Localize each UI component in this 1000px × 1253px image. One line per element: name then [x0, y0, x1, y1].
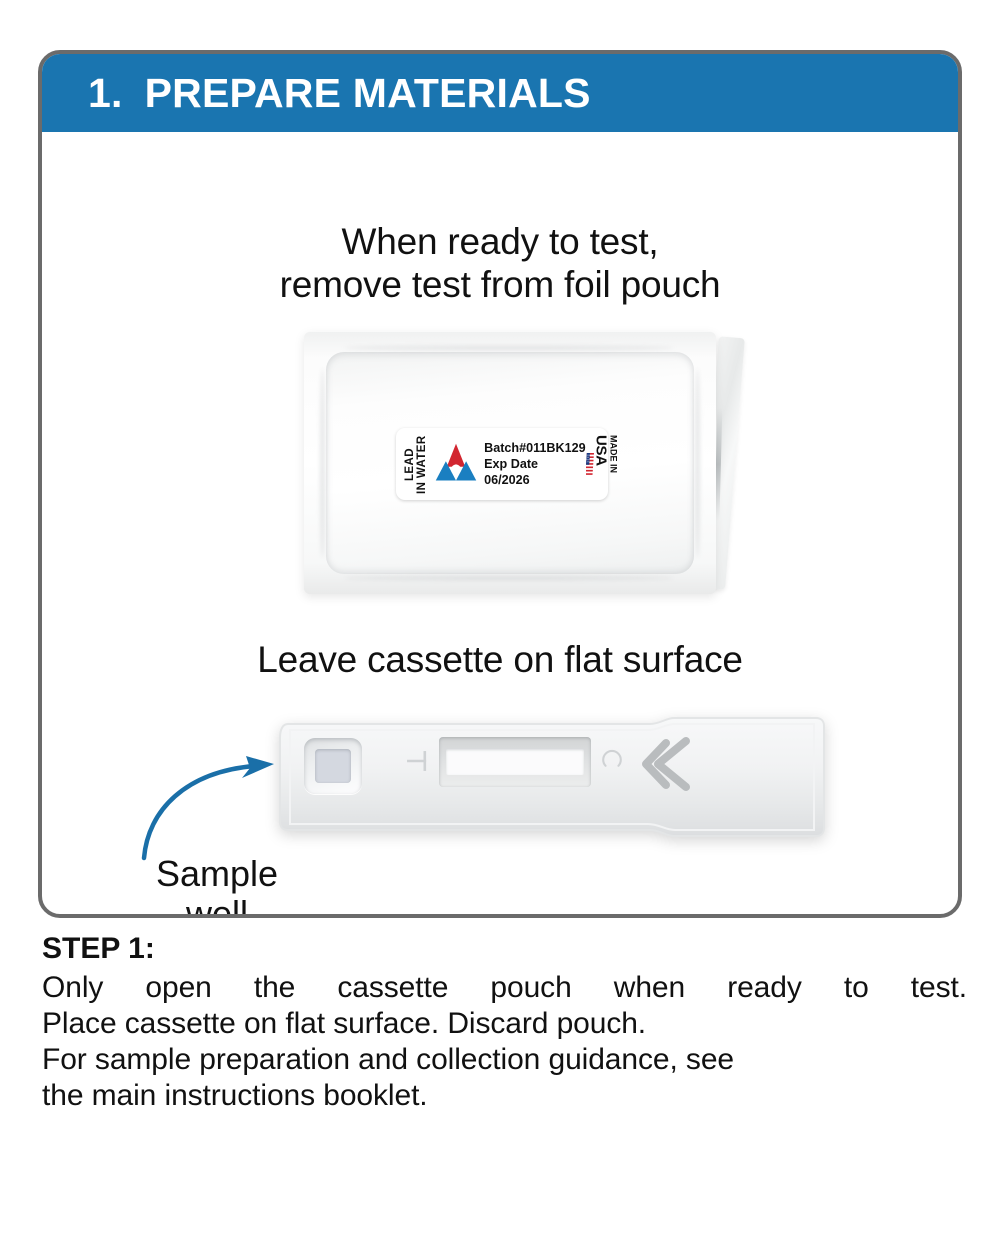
step-instructions-title: STEP 1: [42, 932, 967, 967]
pouch-crease-top [344, 346, 674, 350]
sample-well[interactable] [304, 738, 362, 794]
test-line-marker-t-icon [404, 748, 430, 774]
foil-pouch-illustration: LEAD IN WATER Batch#011BK129 Exp Date 06… [304, 332, 774, 604]
cassette-illustration [278, 716, 834, 848]
label-made-in-usa-block: MADE IN USA [586, 435, 618, 493]
result-window [439, 737, 591, 787]
made-in-text: MADE IN [609, 435, 619, 473]
step-instructions-line1: Only open the cassette pouch when ready … [42, 970, 967, 1006]
step-title-text: PREPARE MATERIALS [145, 70, 591, 116]
step-instructions-line2: Place cassette on flat surface. Discard … [42, 1006, 967, 1042]
double-chevron-left-icon [636, 731, 698, 797]
pouch-crease-bottom [344, 576, 674, 580]
step-card: 1.PREPARE MATERIALS When ready to test, … [38, 50, 962, 918]
sample-well-callout-arrow [134, 754, 294, 864]
label-batch: Batch#011BK129 [484, 440, 586, 456]
pouch-heading-line2: remove test from foil pouch [42, 263, 958, 306]
card-header: 1.PREPARE MATERIALS [42, 54, 958, 132]
pouch-label: LEAD IN WATER Batch#011BK129 Exp Date 06… [396, 428, 608, 500]
lead-in-water-triangle-logo [433, 441, 479, 487]
flat-surface-heading: Leave cassette on flat surface [42, 638, 958, 681]
pouch-heading: When ready to test, remove test from foi… [42, 220, 958, 307]
pouch-crease-right [695, 368, 700, 558]
control-line-marker-c-icon [600, 749, 624, 773]
pouch-crease-left [320, 368, 325, 558]
pouch-heading-line1: When ready to test, [42, 220, 958, 263]
pouch-body: LEAD IN WATER Batch#011BK129 Exp Date 06… [304, 332, 716, 594]
label-made-in-usa-text: MADE IN USA [594, 435, 618, 493]
card-header-title: 1.PREPARE MATERIALS [42, 70, 591, 117]
usa-flag-icon [586, 453, 594, 475]
label-exp-date: 06/2026 [484, 472, 586, 488]
sample-well-label-line1: Sample [102, 854, 332, 894]
label-lead-in-water-text: LEAD IN WATER [404, 434, 428, 494]
sample-well-label: Sample well [102, 854, 332, 918]
label-exp-label: Exp Date [484, 456, 586, 472]
cassette-body [278, 716, 826, 838]
step-instructions-line4: the main instructions booklet. [42, 1078, 967, 1114]
sample-well-label-line2: well [102, 894, 332, 918]
step-instructions: STEP 1: Only open the cassette pouch whe… [42, 932, 967, 1114]
usa-text: USA [593, 435, 610, 466]
label-batch-block: Batch#011BK129 Exp Date 06/2026 [484, 440, 586, 488]
step-instructions-line3: For sample preparation and collection gu… [42, 1042, 967, 1078]
step-number: 1. [88, 70, 123, 116]
